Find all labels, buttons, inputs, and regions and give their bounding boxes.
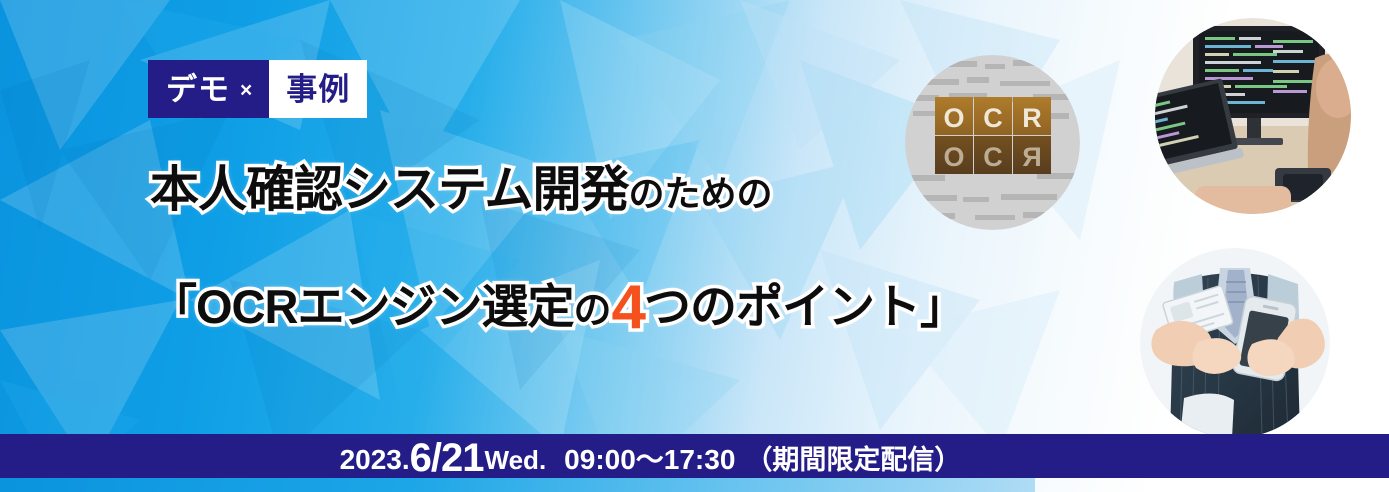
headline-tail-phrase: のための	[629, 173, 773, 214]
webinar-banner: OCR OC R	[0, 0, 1389, 492]
category-badge: デモ × 事例	[148, 60, 367, 118]
headline-ocr-phrase: OCRエンジン選定	[196, 280, 573, 333]
photo-developer-at-monitors	[1155, 18, 1351, 214]
badge-separator-icon: ×	[240, 80, 253, 101]
date-row: 2023. 6/21 Wed. 09:00〜17:30 （期間限定配信）	[340, 434, 962, 479]
headline-particle-no: の	[573, 290, 611, 332]
date-time-range: 09:00〜17:30	[564, 438, 735, 478]
date-note: （期間限定配信）	[745, 438, 961, 477]
badge-demo-label: デモ ×	[148, 60, 269, 118]
headline-line-2-text: 「OCRエンジン選定の4つのポイント」	[150, 272, 966, 334]
badge-case-label: 事例	[269, 60, 367, 118]
badge-demo-text: デモ	[166, 74, 230, 105]
headline-line-1: 本人確認システム開発のための	[150, 166, 773, 215]
headline-line-2: 「OCRエンジン選定の4つのポイント」	[150, 272, 966, 334]
date-weekday: Wed.	[485, 445, 547, 476]
date-bar: 2023. 6/21 Wed. 09:00〜17:30 （期間限定配信）	[0, 434, 1389, 478]
headline-main-phrase: 本人確認システム開発	[150, 163, 629, 217]
date-year: 2023.	[340, 444, 410, 476]
headline-quote-open: 「	[150, 280, 196, 333]
photo-id-card-and-smartphone	[1140, 248, 1330, 438]
headline-quote-close: 」	[920, 280, 966, 333]
headline-line-1-text: 本人確認システム開発のための	[150, 166, 773, 215]
date-day: 6/21	[410, 436, 484, 481]
headline-points-phrase: つのポイント	[644, 280, 920, 333]
photo-ocr-wooden-blocks: OCR OC R	[905, 55, 1080, 230]
headline-point-count: 4	[611, 273, 643, 342]
